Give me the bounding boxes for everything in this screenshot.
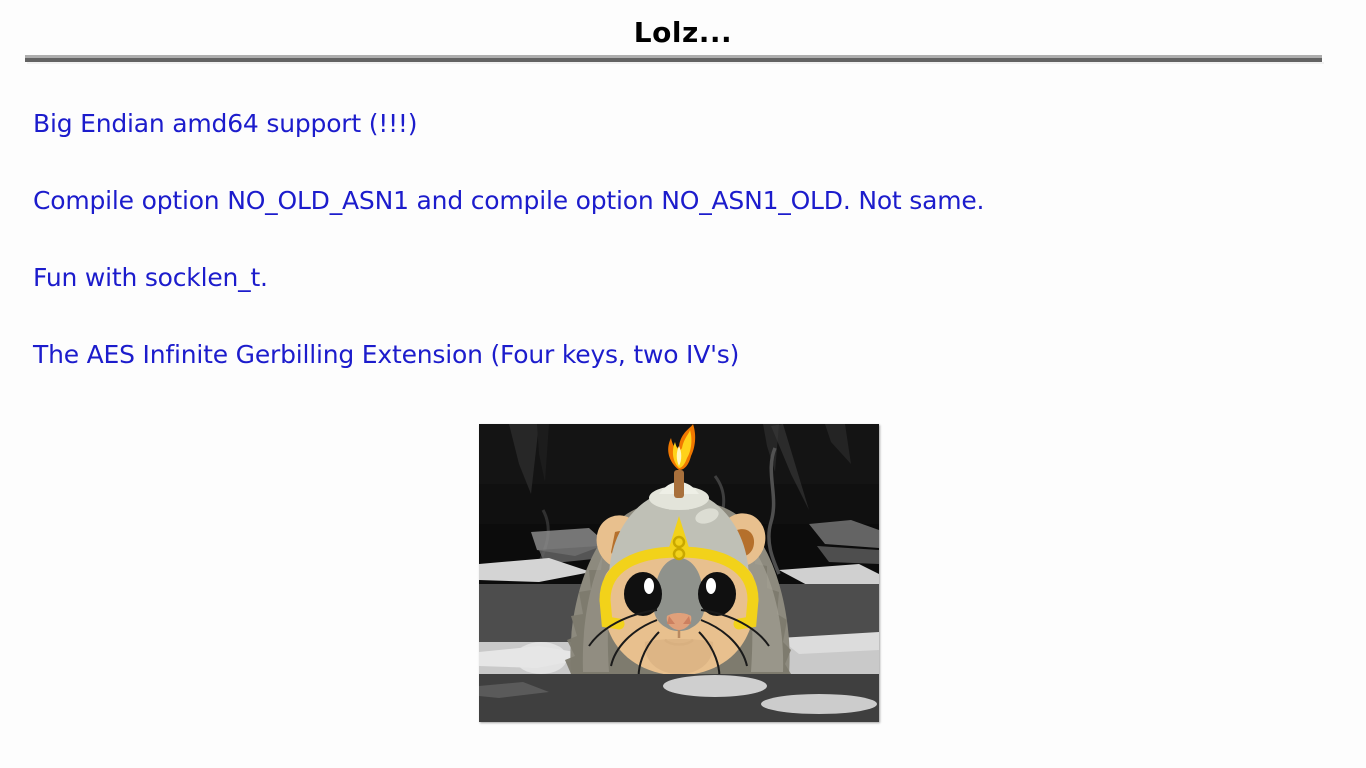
bullet-list: Big Endian amd64 support (!!!) Compile o… <box>33 108 1323 416</box>
page-title: Lolz... <box>0 16 1366 50</box>
bullet-item-3: Fun with socklen_t. <box>33 262 1323 293</box>
title-divider <box>25 55 1322 63</box>
title-divider-shadow <box>27 62 1324 64</box>
bullet-item-2: Compile option NO_OLD_ASN1 and compile o… <box>33 185 1323 216</box>
bullet-item-1: Big Endian amd64 support (!!!) <box>33 108 1323 139</box>
gerbil-illustration <box>479 424 879 722</box>
gerbil-with-candle-image <box>479 424 879 722</box>
candle-stub <box>674 470 684 498</box>
bullet-item-4: The AES Infinite Gerbilling Extension (F… <box>33 339 1323 370</box>
